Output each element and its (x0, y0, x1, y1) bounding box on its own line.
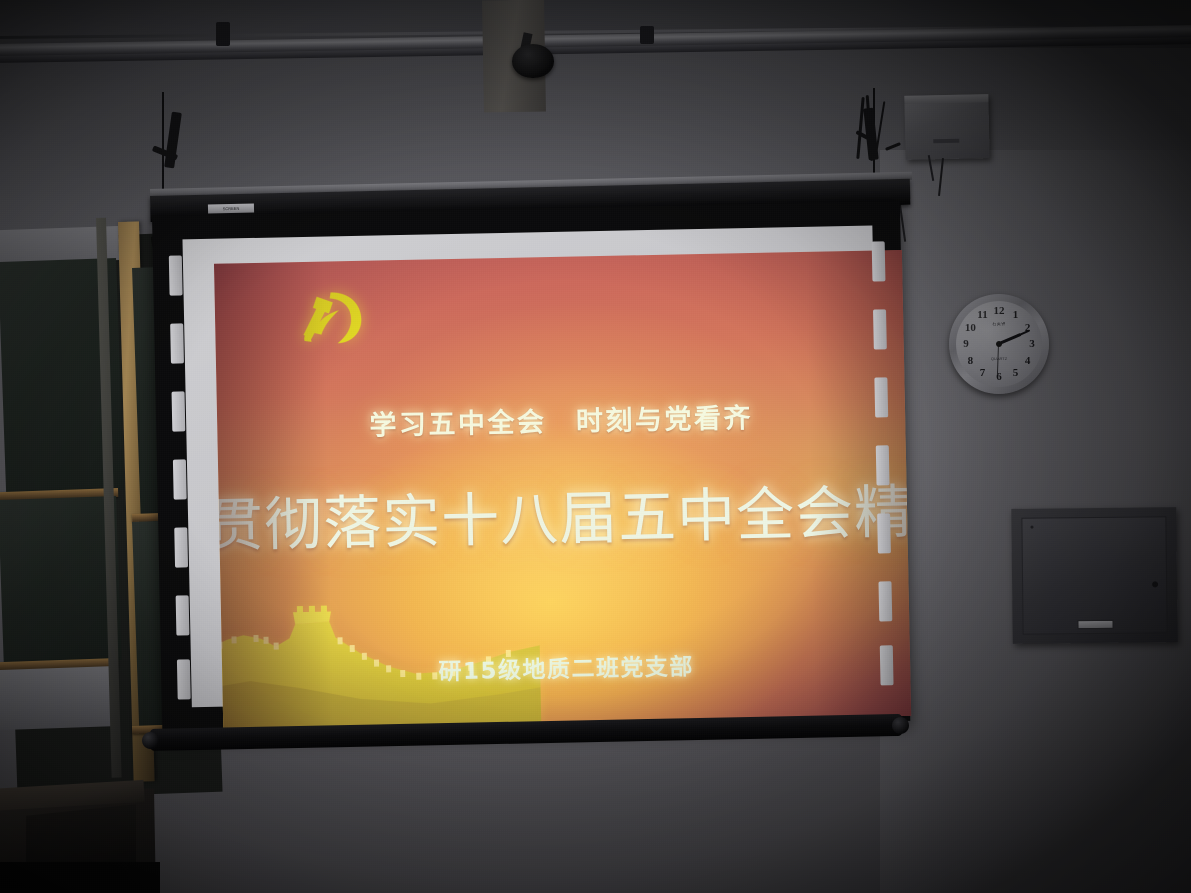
rail-bracket-icon (216, 22, 230, 46)
wall-access-panel[interactable] (1011, 507, 1177, 644)
projection-screen: SCREEN (148, 196, 920, 761)
screen-tension-tab (173, 459, 187, 499)
screen-tension-tab (169, 255, 183, 295)
panel-screw-icon (1030, 526, 1033, 529)
clock-center-pin (996, 341, 1002, 347)
clock-brand-label: 石英钟 (979, 322, 1019, 331)
clock-numeral-3: 3 (1025, 338, 1039, 350)
screen-black-border: 学习五中全会 时刻与党看齐 贯彻落实十八届五中全会精神 研15级地质二班党支部 (152, 201, 910, 736)
slide-content: 学习五中全会 时刻与党看齐 贯彻落实十八届五中全会精神 研15级地质二班党支部 (214, 250, 911, 730)
wall-clock: 121234567891011 石英钟 QUARTZ (949, 294, 1049, 394)
ceiling-dome-speaker-icon (512, 44, 554, 78)
clock-numeral-11: 11 (976, 309, 990, 321)
rail-bracket-icon (640, 26, 654, 44)
screen-tension-tab (874, 377, 888, 417)
wall-mounted-speaker-box (904, 94, 989, 160)
clock-numeral-4: 4 (1021, 355, 1035, 367)
cpc-hammer-sickle-emblem-icon (294, 286, 369, 349)
clock-numeral-12: 12 (992, 305, 1006, 317)
screen-tension-tab (172, 391, 186, 431)
floor-shadow (0, 862, 160, 893)
panel-latch-icon[interactable] (1152, 581, 1158, 587)
screen-tension-tab (176, 595, 190, 635)
clock-numeral-6: 6 (992, 371, 1006, 383)
slide-title: 贯彻落实十八届五中全会精神 (214, 465, 911, 563)
clock-numeral-7: 7 (976, 367, 990, 379)
weight-bar-end-cap (892, 717, 909, 734)
screen-tension-tab (880, 645, 894, 685)
slide-headline: 学习五中全会 时刻与党看齐 (217, 393, 906, 446)
clock-sub-label: QUARTZ (985, 356, 1013, 361)
access-panel-door[interactable] (1021, 516, 1167, 635)
screen-tension-tab (878, 581, 892, 621)
screen-tension-tab (876, 445, 890, 485)
classroom-photo-scene: 121234567891011 石英钟 QUARTZ (0, 0, 1191, 893)
screen-tension-tab (170, 323, 184, 363)
clock-numeral-8: 8 (963, 355, 977, 367)
screen-tension-tab (177, 659, 191, 699)
blackboard-panel (0, 496, 122, 664)
clock-numeral-10: 10 (963, 322, 977, 334)
panel-label-plate (1077, 620, 1113, 629)
blackboard-wall-strip (0, 666, 118, 730)
clock-numeral-1: 1 (1009, 309, 1023, 321)
screen-tension-tab (873, 309, 887, 349)
speaker-box-lip (904, 94, 988, 104)
screen-tension-tab (872, 241, 886, 281)
screen-tension-tab (174, 527, 188, 567)
clock-numeral-5: 5 (1009, 367, 1023, 379)
screen-tension-tab (877, 513, 891, 553)
clock-numeral-9: 9 (959, 338, 973, 350)
speaker-box-slot (933, 139, 959, 144)
screen-brand-label: SCREEN (208, 203, 254, 213)
screen-surface: 学习五中全会 时刻与党看齐 贯彻落实十八届五中全会精神 研15级地质二班党支部 (182, 226, 881, 708)
